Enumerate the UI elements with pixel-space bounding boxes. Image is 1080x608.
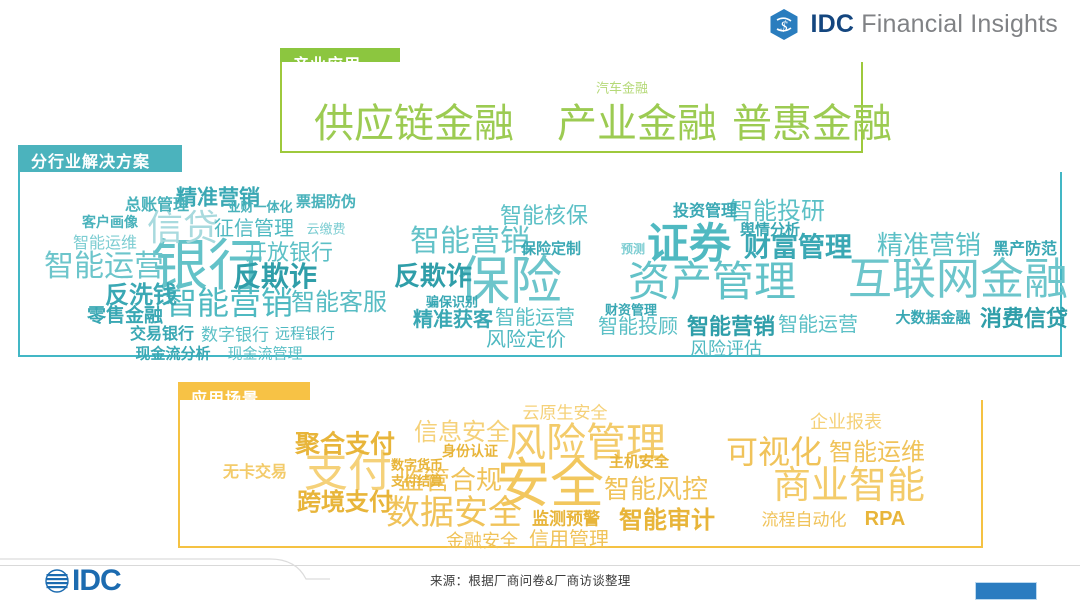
- wordcloud-term: 资产管理: [628, 261, 796, 303]
- wordcloud-term: 交易银行: [130, 327, 194, 343]
- footer-idc-logo: IDC: [44, 566, 121, 596]
- wordcloud-term: 云原生安全: [523, 405, 608, 422]
- wordcloud-term: 总账管理: [125, 198, 189, 214]
- wordcloud-term: 零售金融: [87, 307, 163, 326]
- wordcloud-application-scenarios: 安全风险管理数据安全监管合规信息安全智能风控智能审计云原生安全身份认证主机安全监…: [180, 400, 981, 546]
- wordcloud-term: 汽车金融: [596, 82, 648, 95]
- wordcloud-term: 黑产防范: [993, 242, 1057, 258]
- wordcloud-term: 消费信贷: [980, 308, 1068, 330]
- wordcloud-term: 产业金融: [557, 104, 717, 144]
- panel-application-scenarios: 安全风险管理数据安全监管合规信息安全智能风控智能审计云原生安全身份认证主机安全监…: [178, 400, 983, 548]
- wordcloud-term: 保险定制: [521, 242, 581, 257]
- wordcloud-term: RPA: [865, 509, 906, 529]
- slide-canvas: $ IDC Financial Insights 产业应用 供应链金融产业金融普…: [0, 0, 1080, 608]
- wordcloud-industry-application: 供应链金融产业金融普惠金融汽车金融: [282, 62, 861, 151]
- brand-title-bold: IDC: [810, 10, 854, 38]
- idc-globe-logo-icon: [44, 568, 70, 594]
- wordcloud-term: 智能运维: [829, 441, 925, 465]
- wordcloud-term: 智能运营: [44, 252, 164, 282]
- wordcloud-term: 监测预警: [532, 511, 600, 528]
- wordcloud-term: 征信管理: [214, 219, 294, 239]
- brand-title-rest: Financial Insights: [854, 10, 1058, 38]
- panel-industry-application: 供应链金融产业金融普惠金融汽车金融: [280, 62, 863, 153]
- wordcloud-term: 企业报表: [810, 413, 882, 431]
- wordcloud-term: 身份认证: [442, 444, 498, 458]
- wordcloud-term: 金融安全: [446, 532, 518, 550]
- wordcloud-term: 投资管理: [673, 204, 737, 220]
- wordcloud-vertical-solutions: 银行智能运营信贷智能营销智能客服反欺诈反洗钱零售金融开放银行征信管理精准营销总账…: [20, 172, 1060, 355]
- wordcloud-term: 开放银行: [245, 242, 333, 264]
- wordcloud-term: 现金流分析: [135, 347, 210, 362]
- wordcloud-term: 支付结算: [391, 475, 443, 488]
- wordcloud-term: 反洗钱: [105, 284, 177, 308]
- brand-title: IDC Financial Insights: [810, 10, 1058, 39]
- wordcloud-term: 财资管理: [605, 304, 657, 317]
- wordcloud-term: 智能营销: [410, 227, 530, 257]
- wordcloud-term: 证券: [647, 223, 731, 265]
- wordcloud-term: 远程银行: [275, 327, 335, 342]
- wordcloud-term: 舆情分析: [740, 223, 800, 238]
- wordcloud-term: 商业智能: [773, 467, 925, 505]
- idc-hexagon-logo-icon: $: [769, 8, 799, 41]
- wordcloud-term: 现金流管理: [227, 347, 302, 362]
- wordcloud-term: 风险定价: [486, 330, 566, 350]
- wordcloud-term: 主机安全: [609, 455, 669, 470]
- wordcloud-term: 客户画像: [82, 215, 138, 229]
- source-note: 来源：根据厂商问卷&厂商访谈整理: [430, 570, 631, 589]
- wordcloud-term: 智能审计: [619, 509, 715, 533]
- wordcloud-term: 预测: [621, 243, 645, 255]
- panel-vertical-solutions: 银行智能运营信贷智能营销智能客服反欺诈反洗钱零售金融开放银行征信管理精准营销总账…: [18, 172, 1062, 357]
- wordcloud-term: 供应链金融: [314, 104, 514, 144]
- footer-idc-text: IDC: [72, 566, 121, 596]
- wordcloud-term: 反欺诈: [394, 263, 472, 289]
- wordcloud-term: 大数据金融: [895, 311, 970, 326]
- wordcloud-term: 普惠金融: [732, 104, 892, 144]
- wordcloud-term: 聚合支付: [295, 433, 395, 458]
- wordcloud-term: 智能风控: [604, 476, 708, 502]
- wordcloud-term: 智能核保: [500, 205, 588, 227]
- brand-header: $ IDC Financial Insights: [769, 8, 1058, 41]
- wordcloud-term: 反欺诈: [233, 263, 317, 291]
- wordcloud-term: 云缴费: [306, 223, 345, 236]
- wordcloud-term: 数字银行: [201, 327, 269, 344]
- wordcloud-term: 业财一体化: [227, 201, 292, 214]
- wordcloud-term: 数字货币: [391, 459, 443, 472]
- wordcloud-term: 可视化: [726, 436, 822, 468]
- wordcloud-term: 精准获客: [413, 310, 493, 330]
- wordcloud-term: 智能投研: [729, 200, 825, 224]
- footer-blue-block: [975, 582, 1037, 600]
- wordcloud-term: 无卡交易: [223, 465, 287, 481]
- wordcloud-term: 信息安全: [414, 421, 510, 445]
- tab-vertical-solutions-label: 分行业解决方案: [31, 148, 150, 172]
- wordcloud-term: 风险评估: [690, 340, 762, 358]
- wordcloud-term: 信用管理: [529, 530, 609, 550]
- wordcloud-term: 智能客服: [291, 291, 387, 315]
- wordcloud-term: 智能运营: [495, 308, 575, 328]
- wordcloud-term: 跨境支付: [297, 491, 393, 515]
- wordcloud-term: 骗保识别: [426, 296, 478, 309]
- wordcloud-term: 智能运维: [73, 236, 137, 252]
- wordcloud-term: 互联网金融: [848, 258, 1068, 302]
- wordcloud-term: 信贷: [147, 210, 219, 246]
- wordcloud-term: 智能投顾: [598, 317, 678, 337]
- wordcloud-term: 精准营销: [877, 232, 981, 258]
- wordcloud-term: 智能营销: [687, 316, 775, 338]
- wordcloud-term: 流程自动化: [762, 512, 847, 529]
- wordcloud-term: 财富管理: [744, 235, 852, 262]
- tab-vertical-solutions[interactable]: 分行业解决方案: [18, 145, 182, 175]
- wordcloud-term: 数据安全: [386, 496, 522, 530]
- wordcloud-term: 票据防伪: [296, 195, 356, 210]
- wordcloud-term: 智能运营: [778, 315, 858, 335]
- svg-text:$: $: [781, 19, 789, 35]
